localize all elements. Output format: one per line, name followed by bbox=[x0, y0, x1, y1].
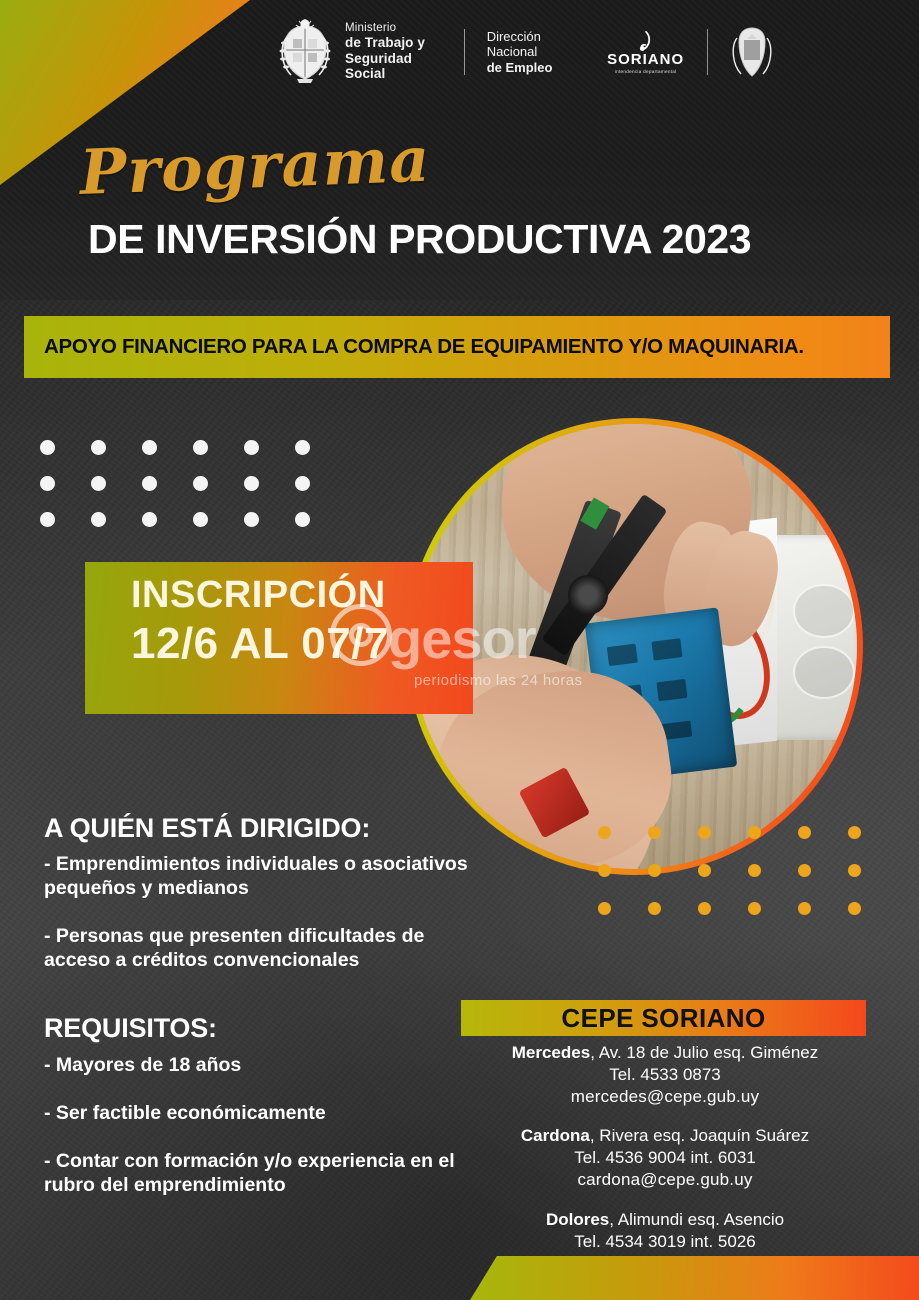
soriano-wordmark: SORIANO bbox=[607, 51, 684, 68]
inscription-label: INSCRIPCIÓN bbox=[131, 576, 473, 616]
cepe-contact-list: Mercedes, Av. 18 de Julio esq. GiménezTe… bbox=[455, 1042, 875, 1292]
dne-line-2: de Empleo bbox=[487, 60, 581, 76]
contact-block: Cardona, Rivera esq. Joaquín SuárezTel. … bbox=[455, 1125, 875, 1191]
decor-dot bbox=[295, 512, 310, 527]
decor-dot bbox=[40, 512, 55, 527]
banner-text: APOYO FINANCIERO PARA LA COMPRA DE EQUIP… bbox=[44, 335, 804, 359]
contact-email[interactable]: mercedes@cepe.gub.uy bbox=[455, 1086, 875, 1108]
decor-dot bbox=[91, 512, 106, 527]
decor-dot bbox=[598, 864, 611, 877]
contact-block: Mercedes, Av. 18 de Julio esq. GiménezTe… bbox=[455, 1042, 875, 1108]
dne-line-1: Dirección Nacional bbox=[487, 29, 581, 60]
ministry-line-3: Seguridad Social bbox=[345, 51, 442, 82]
soriano-subtitle: intendencia departamental bbox=[605, 69, 686, 74]
decor-dot bbox=[698, 902, 711, 915]
soriano-logo: SORIANO intendencia departamental bbox=[605, 30, 686, 74]
program-script-title: Programa bbox=[78, 120, 501, 226]
uruguay-coat-of-arms-icon bbox=[275, 19, 335, 85]
header-divider-1 bbox=[464, 29, 465, 75]
contact-address: Cardona, Rivera esq. Joaquín Suárez bbox=[455, 1125, 875, 1147]
decor-dot bbox=[698, 826, 711, 839]
inscription-dates: 12/6 AL 07/7 bbox=[131, 620, 473, 668]
requisitos-item-3: - Contar con formación y/o experiencia e… bbox=[44, 1150, 484, 1198]
cepe-soriano-bar: CEPE SORIANO bbox=[461, 1000, 866, 1036]
decor-dot bbox=[798, 902, 811, 915]
orange-dot-grid-decoration bbox=[598, 826, 898, 926]
title-main: DE INVERSIÓN PRODUCTIVA bbox=[88, 216, 662, 262]
title-year: 2023 bbox=[662, 216, 752, 262]
decor-dot bbox=[848, 826, 861, 839]
target-audience-section: A QUIÉN ESTÁ DIRIGIDO: - Emprendimientos… bbox=[44, 813, 474, 973]
bottom-gradient-bar bbox=[470, 1256, 919, 1300]
dirigido-heading: A QUIÉN ESTÁ DIRIGIDO: bbox=[44, 813, 474, 844]
cepe-title: CEPE SORIANO bbox=[561, 1003, 765, 1034]
requisitos-item-2: - Ser factible económicamente bbox=[44, 1102, 484, 1126]
ministry-line-2: de Trabajo y bbox=[345, 35, 442, 51]
decor-dot bbox=[295, 476, 310, 491]
circular-photo-frame bbox=[406, 418, 863, 875]
contact-city: Dolores bbox=[546, 1210, 609, 1229]
requisitos-heading: REQUISITOS: bbox=[44, 1013, 484, 1044]
requirements-section: REQUISITOS: - Mayores de 18 años - Ser f… bbox=[44, 1013, 484, 1198]
inscription-box: INSCRIPCIÓN 12/6 AL 07/7 bbox=[85, 562, 473, 714]
decor-dot bbox=[748, 902, 761, 915]
decor-dot bbox=[40, 440, 55, 455]
contact-email[interactable]: cardona@cepe.gub.uy bbox=[455, 1169, 875, 1191]
decor-dot bbox=[91, 440, 106, 455]
decor-dot bbox=[244, 512, 259, 527]
decor-dot bbox=[698, 864, 711, 877]
decor-dot bbox=[598, 902, 611, 915]
pliers-pivot bbox=[568, 575, 608, 615]
decor-dot bbox=[40, 476, 55, 491]
decor-dot bbox=[848, 864, 861, 877]
dirigido-item-1: - Emprendimientos individuales o asociat… bbox=[44, 853, 474, 901]
decor-dot bbox=[193, 440, 208, 455]
contact-phone[interactable]: Tel. 4534 3019 int. 5026 bbox=[455, 1231, 875, 1253]
contact-city: Mercedes bbox=[512, 1043, 590, 1062]
electrician-photo bbox=[412, 424, 857, 869]
decor-dot bbox=[142, 440, 157, 455]
requisitos-item-1: - Mayores de 18 años bbox=[44, 1054, 484, 1078]
decor-dot bbox=[142, 512, 157, 527]
contact-address: Mercedes, Av. 18 de Julio esq. Giménez bbox=[455, 1042, 875, 1064]
decor-dot bbox=[598, 826, 611, 839]
contact-address: Dolores, Alimundi esq. Asencio bbox=[455, 1209, 875, 1231]
direccion-nacional-empleo: Dirección Nacional de Empleo bbox=[487, 29, 581, 76]
decor-dot bbox=[648, 902, 661, 915]
decor-dot bbox=[798, 864, 811, 877]
institutional-header: Ministerio de Trabajo y Seguridad Social… bbox=[275, 16, 775, 88]
decor-dot bbox=[848, 902, 861, 915]
decor-dot bbox=[193, 476, 208, 491]
contact-city: Cardona bbox=[521, 1126, 590, 1145]
decor-dot bbox=[648, 826, 661, 839]
dirigido-item-2: - Personas que presenten dificultades de… bbox=[44, 925, 474, 973]
decor-dot bbox=[244, 440, 259, 455]
contact-phone[interactable]: Tel. 4533 0873 bbox=[455, 1064, 875, 1086]
poster-root: Ministerio de Trabajo y Seguridad Social… bbox=[0, 0, 919, 1300]
header-divider-2 bbox=[707, 29, 708, 75]
white-dot-grid-decoration bbox=[40, 440, 320, 530]
decor-dot bbox=[142, 476, 157, 491]
page-title: DE INVERSIÓN PRODUCTIVA 2023 bbox=[88, 216, 848, 263]
ministry-name: Ministerio de Trabajo y Seguridad Social bbox=[345, 22, 442, 82]
decor-dot bbox=[748, 864, 761, 877]
decor-dot bbox=[91, 476, 106, 491]
financial-support-banner: APOYO FINANCIERO PARA LA COMPRA DE EQUIP… bbox=[24, 316, 890, 378]
decor-dot bbox=[648, 864, 661, 877]
contact-phone[interactable]: Tel. 4536 9004 int. 6031 bbox=[455, 1147, 875, 1169]
decor-dot bbox=[193, 512, 208, 527]
soriano-shield-icon bbox=[729, 24, 775, 80]
decor-dot bbox=[295, 440, 310, 455]
decor-dot bbox=[748, 826, 761, 839]
decor-dot bbox=[244, 476, 259, 491]
decor-dot bbox=[798, 826, 811, 839]
ministry-line-1: Ministerio bbox=[345, 22, 442, 35]
